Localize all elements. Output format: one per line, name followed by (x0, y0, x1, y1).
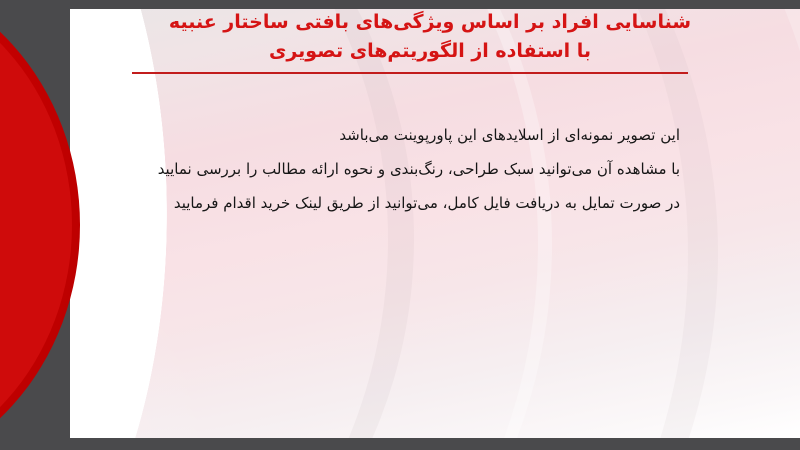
slide-body-text: این تصویر نمونه‌ای از اسلایدهای این پاور… (60, 118, 680, 220)
body-line-3: در صورت تمایل به دریافت فایل کامل، می‌تو… (60, 186, 680, 220)
body-line-1: این تصویر نمونه‌ای از اسلایدهای این پاور… (60, 118, 680, 152)
title-underline (132, 72, 688, 74)
panel-edge-shadow (48, 9, 78, 438)
presentation-slide: شناسایی افراد بر اساس ویژگی‌های بافتی سا… (0, 0, 800, 450)
title-line-2: با استفاده از الگوریتم‌های تصویری (80, 37, 780, 66)
slide-frame-bottom (0, 438, 800, 450)
body-line-2: با مشاهده آن می‌توانید سبک طراحی، رنگ‌بن… (60, 152, 680, 186)
slide-title: شناسایی افراد بر اساس ویژگی‌های بافتی سا… (80, 8, 780, 66)
title-line-1: شناسایی افراد بر اساس ویژگی‌های بافتی سا… (80, 8, 780, 37)
